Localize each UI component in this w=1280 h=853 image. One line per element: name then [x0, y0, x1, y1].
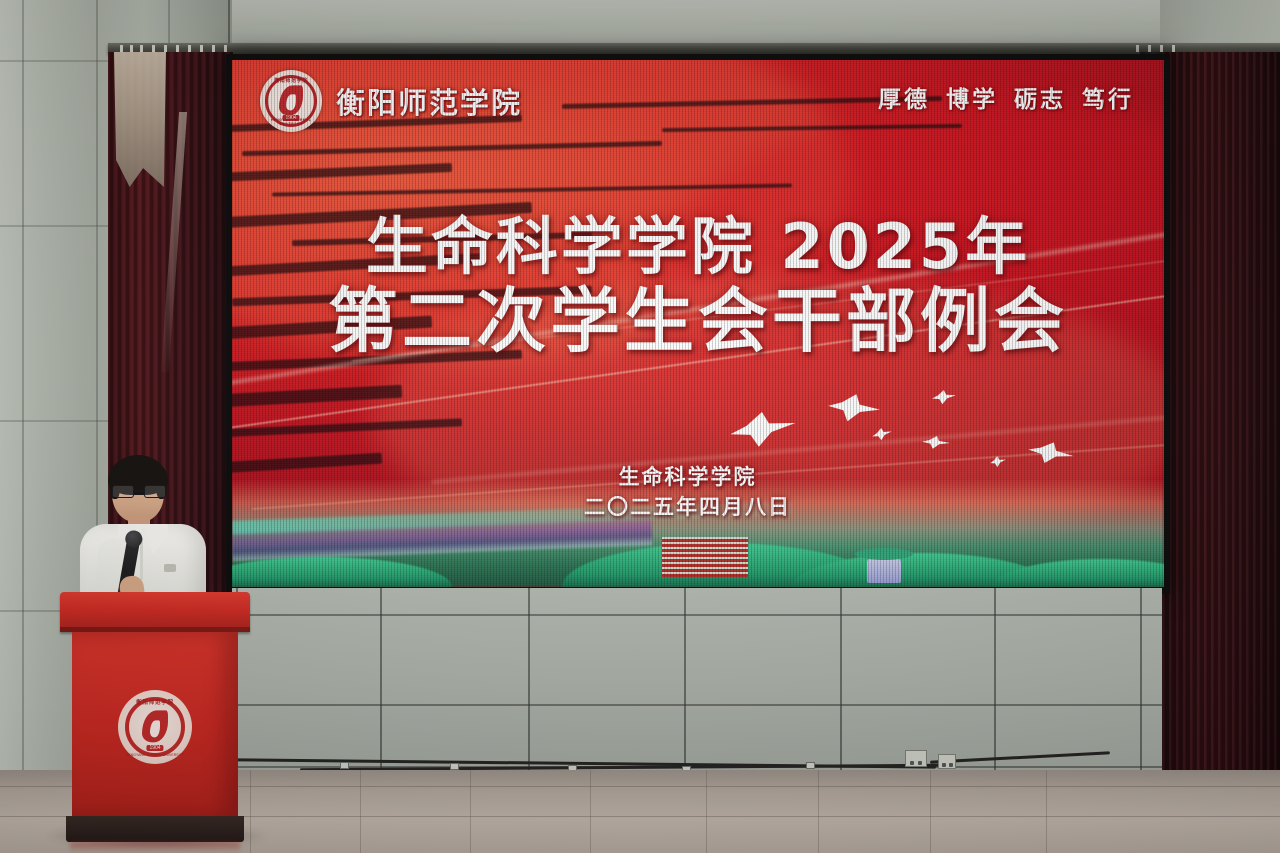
- podium-body: 衡阳师范学院 1904 HENGYANG NORMAL UNIVERSITY: [72, 632, 238, 817]
- institution-name: 衡阳师范学院: [336, 80, 522, 122]
- motto-item-3: 砺志: [1014, 80, 1066, 114]
- podium-top-surface: [60, 592, 250, 632]
- screen-brand: 衡阳师范学院 1904 HENGYANG NORMAL UNIVERSITY 衡…: [260, 70, 522, 132]
- conference-stage-photo: 衡阳师范学院 1904 HENGYANG NORMAL UNIVERSITY 衡…: [0, 0, 1280, 853]
- event-date: 二〇二五年四月八日: [584, 492, 791, 522]
- cable-clip: [806, 762, 815, 769]
- flame-emblem-icon: 衡阳师范学院 1904 HENGYANG NORMAL UNIVERSITY: [118, 690, 192, 764]
- emblem-arc-bottom: HENGYANG NORMAL UNIVERSITY: [260, 118, 322, 126]
- event-title: 生命科学学院 2025年 第二次学生会干部例会: [232, 214, 1164, 358]
- stage-front-wall: [232, 588, 1162, 778]
- podium-floor-reflection: [70, 842, 240, 853]
- podium-emblem-year: 1904: [146, 745, 163, 751]
- university-motto: 厚德 博学 砺志 笃行: [878, 80, 1134, 114]
- speaking-podium: 衡阳师范学院 1904 HENGYANG NORMAL UNIVERSITY: [60, 592, 250, 842]
- screen-flag-motif: [662, 537, 748, 577]
- organizer-name: 生命科学学院: [584, 462, 791, 492]
- event-subtitle: 生命科学学院 二〇二五年四月八日: [584, 462, 791, 523]
- screen-pavilion-motif: [867, 557, 901, 583]
- podium-emblem-arc-bottom: HENGYANG NORMAL UNIVERSITY: [118, 753, 192, 757]
- flame-emblem-icon: 衡阳师范学院 1904 HENGYANG NORMAL UNIVERSITY: [260, 70, 322, 132]
- stage-curtain-right: [1162, 52, 1280, 853]
- motto-item-1: 厚德: [878, 80, 930, 114]
- power-outlet-icon: [905, 750, 927, 767]
- podium-base: [66, 816, 244, 842]
- power-outlet-icon: [938, 754, 956, 769]
- cable-clip: [450, 763, 459, 770]
- glasses-icon: [112, 485, 166, 498]
- emblem-arc-top: 衡阳师范学院: [260, 77, 322, 84]
- motto-item-2: 博学: [946, 80, 998, 114]
- cable-clip: [340, 762, 349, 769]
- event-title-line-1: 生命科学学院 2025年: [232, 214, 1164, 280]
- podium-emblem-arc-top: 衡阳师范学院: [118, 698, 192, 706]
- led-screen: 衡阳师范学院 1904 HENGYANG NORMAL UNIVERSITY 衡…: [232, 60, 1164, 587]
- shirt-chest-logo: [164, 564, 176, 572]
- curtain-rail: [108, 43, 1280, 54]
- event-title-line-2: 第二次学生会干部例会: [232, 284, 1164, 358]
- motto-item-4: 笃行: [1082, 80, 1134, 114]
